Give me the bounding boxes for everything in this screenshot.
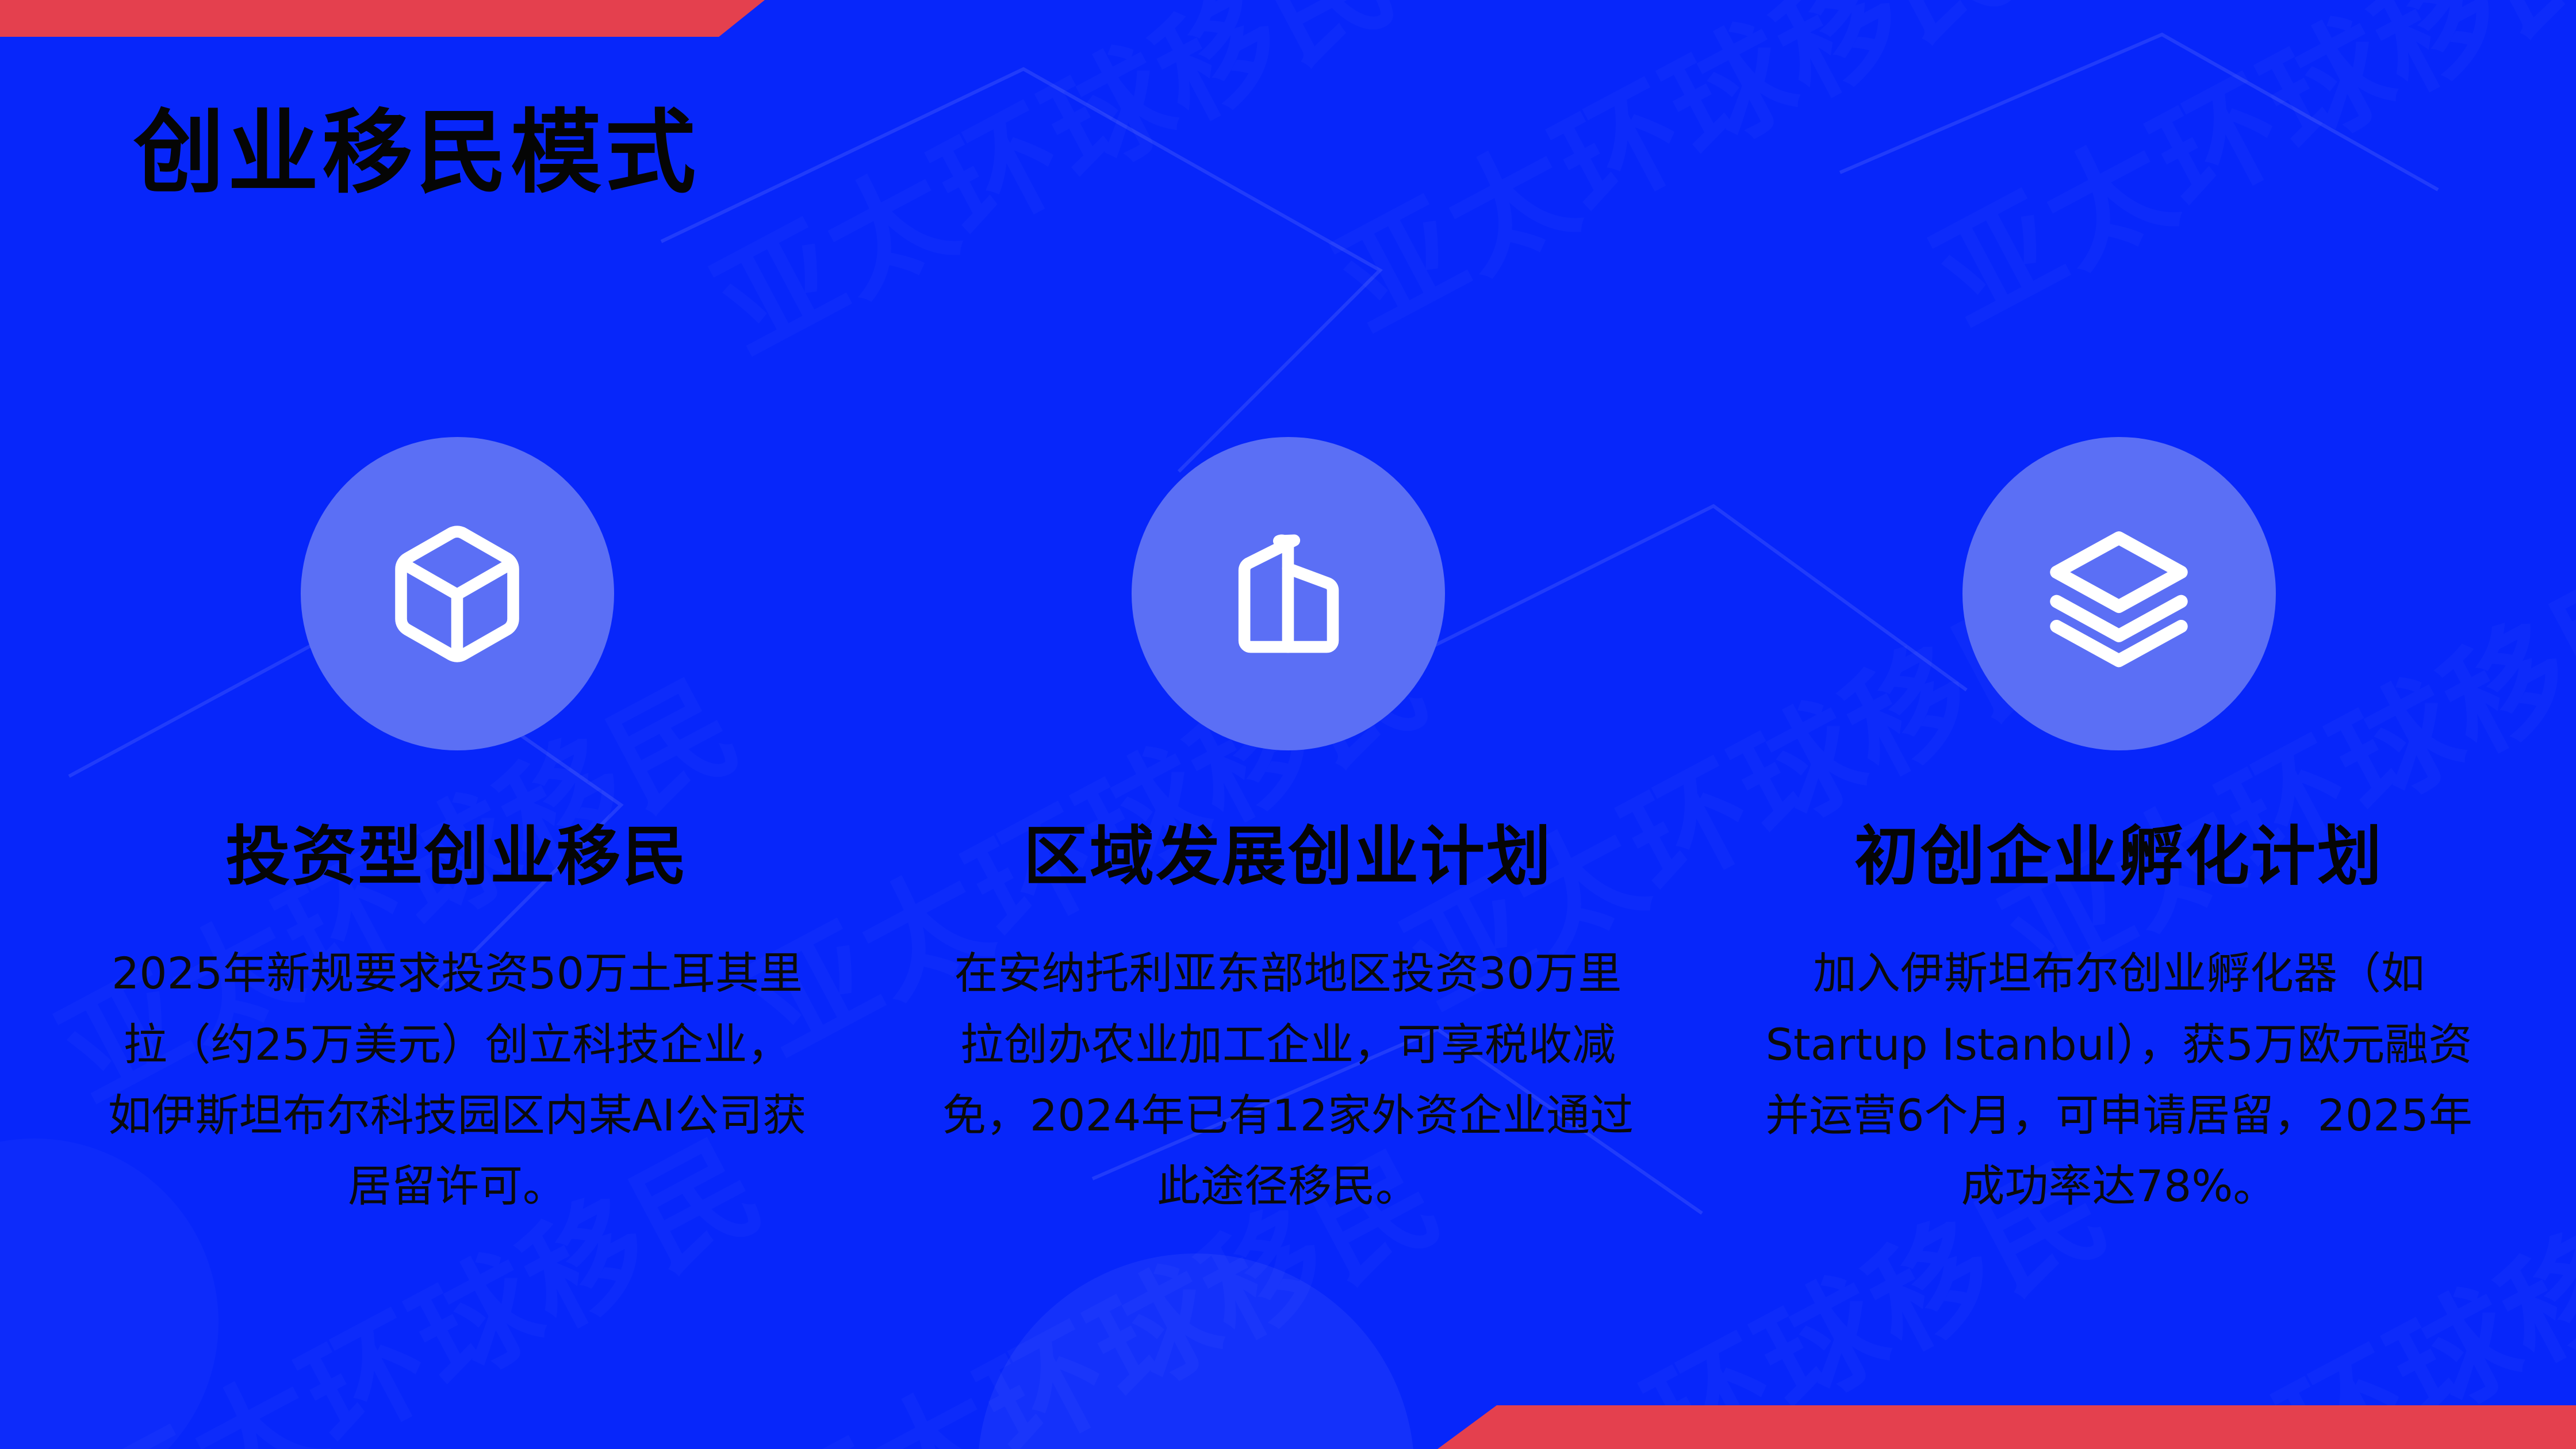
card-regional-development[interactable]: 区域发展创业计划 在安纳托利亚东部地区投资30万里拉创办农业加工企业，可享税收减… xyxy=(917,437,1659,1221)
slide-root: 亚太环球移民 亚太环球移民 亚太环球移民 亚太环球移民 亚太环球移民 亚太环球移… xyxy=(0,0,2576,1449)
card-title: 投资型创业移民 xyxy=(226,818,689,895)
watermark-text: 亚太环球移民 xyxy=(1302,0,2042,362)
card-body: 在安纳托利亚东部地区投资30万里拉创办农业加工企业，可享税收减免，2024年已有… xyxy=(934,938,1642,1221)
top-red-banner xyxy=(0,0,765,37)
card-investment-startup[interactable]: 投资型创业移民 2025年新规要求投资50万土耳其里拉（约25万美元）创立科技企… xyxy=(86,437,828,1221)
cards-row: 投资型创业移民 2025年新规要求投资50万土耳其里拉（约25万美元）创立科技企… xyxy=(0,437,2576,1221)
card-body: 加入伊斯坦布尔创业孵化器（如Startup Istanbul），获5万欧元融资并… xyxy=(1765,938,2472,1221)
cube-icon xyxy=(382,519,532,669)
icon-badge xyxy=(1962,437,2276,750)
icon-badge xyxy=(301,437,614,750)
layers-icon xyxy=(2044,519,2194,669)
watermark-text: 亚太环球移民 xyxy=(1900,0,2576,356)
icon-badge xyxy=(1132,437,1445,750)
card-startup-incubator[interactable]: 初创企业孵化计划 加入伊斯坦布尔创业孵化器（如Startup Istanbul）… xyxy=(1748,437,2490,1221)
building-icon xyxy=(1213,519,1363,669)
decorative-circle xyxy=(977,1253,1414,1449)
page-title: 创业移民模式 xyxy=(133,101,699,206)
card-title: 初创企业孵化计划 xyxy=(1854,818,2383,895)
watermark-text: 亚太环球移民 xyxy=(681,0,1421,385)
card-body: 2025年新规要求投资50万土耳其里拉（约25万美元）创立科技企业，如伊斯坦布尔… xyxy=(103,938,811,1221)
bottom-red-banner xyxy=(1437,1405,2576,1449)
card-title: 区域发展创业计划 xyxy=(1023,818,1552,895)
